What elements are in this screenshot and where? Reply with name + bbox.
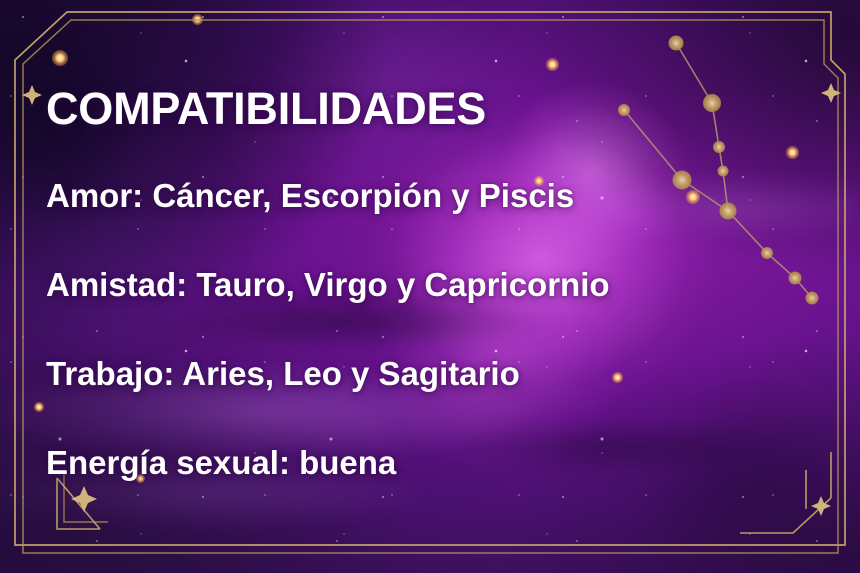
frame-bottom-left-chamfer (57, 478, 100, 529)
glow-star (192, 14, 203, 25)
glow-star (786, 146, 799, 159)
four-point-sparkle (22, 85, 42, 105)
glow-star (546, 58, 559, 71)
four-point-sparkle (811, 496, 831, 516)
list-item: Energía sexual: buena (46, 446, 686, 481)
four-point-sparkle (71, 486, 97, 512)
list-item: Amistad: Tauro, Virgo y Capricornio (46, 268, 686, 303)
page-title: COMPATIBILIDADES (46, 86, 686, 133)
compatibility-list: Amor: Cáncer, Escorpión y Piscis Amistad… (46, 179, 686, 481)
four-point-sparkle (821, 83, 841, 103)
glow-star (52, 50, 68, 66)
horoscope-compatibility-poster: COMPATIBILIDADES Amor: Cáncer, Escorpión… (0, 0, 860, 573)
text-content-block: COMPATIBILIDADES Amor: Cáncer, Escorpión… (46, 86, 686, 481)
list-item: Amor: Cáncer, Escorpión y Piscis (46, 179, 686, 214)
glow-star (686, 190, 700, 204)
list-item: Trabajo: Aries, Leo y Sagitario (46, 357, 686, 392)
glow-star (34, 402, 44, 412)
